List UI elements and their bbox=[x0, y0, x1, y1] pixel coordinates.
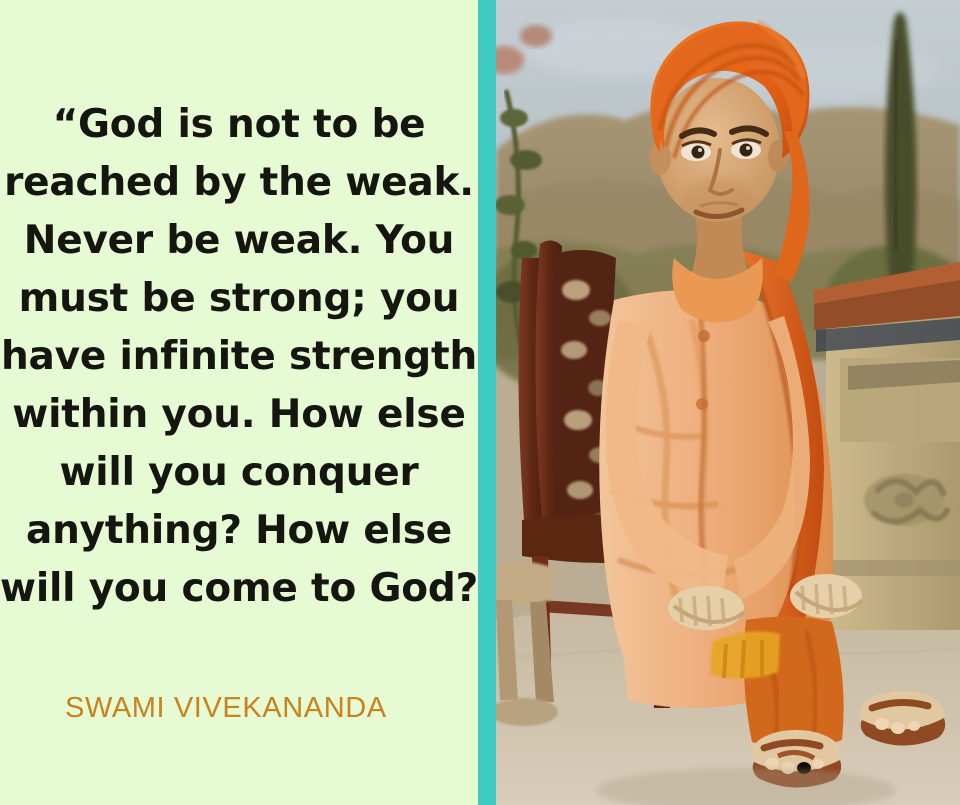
quote-line: reached by the weak. bbox=[0, 154, 478, 212]
teal-divider bbox=[478, 0, 496, 805]
quote-line: anything? How else bbox=[0, 502, 478, 560]
quote-line: must be strong; you bbox=[0, 270, 478, 328]
portrait-photo bbox=[496, 0, 960, 805]
quote-text: “God is not to be reached by the weak. N… bbox=[0, 96, 478, 618]
portrait-illustration bbox=[496, 0, 960, 805]
quote-line: within you. How else bbox=[0, 386, 478, 444]
attribution-name: SWAMI VIVEKANANDA bbox=[65, 692, 387, 725]
quote-line: will you come to God?” bbox=[0, 560, 478, 618]
quote-line: have infinite strength bbox=[0, 328, 478, 386]
quote-poster: “God is not to be reached by the weak. N… bbox=[0, 0, 960, 805]
quote-panel: “God is not to be reached by the weak. N… bbox=[0, 0, 478, 805]
quote-line: “God is not to be bbox=[0, 96, 478, 154]
quote-line: Never be weak. You bbox=[0, 212, 478, 270]
quote-line: will you conquer bbox=[0, 444, 478, 502]
